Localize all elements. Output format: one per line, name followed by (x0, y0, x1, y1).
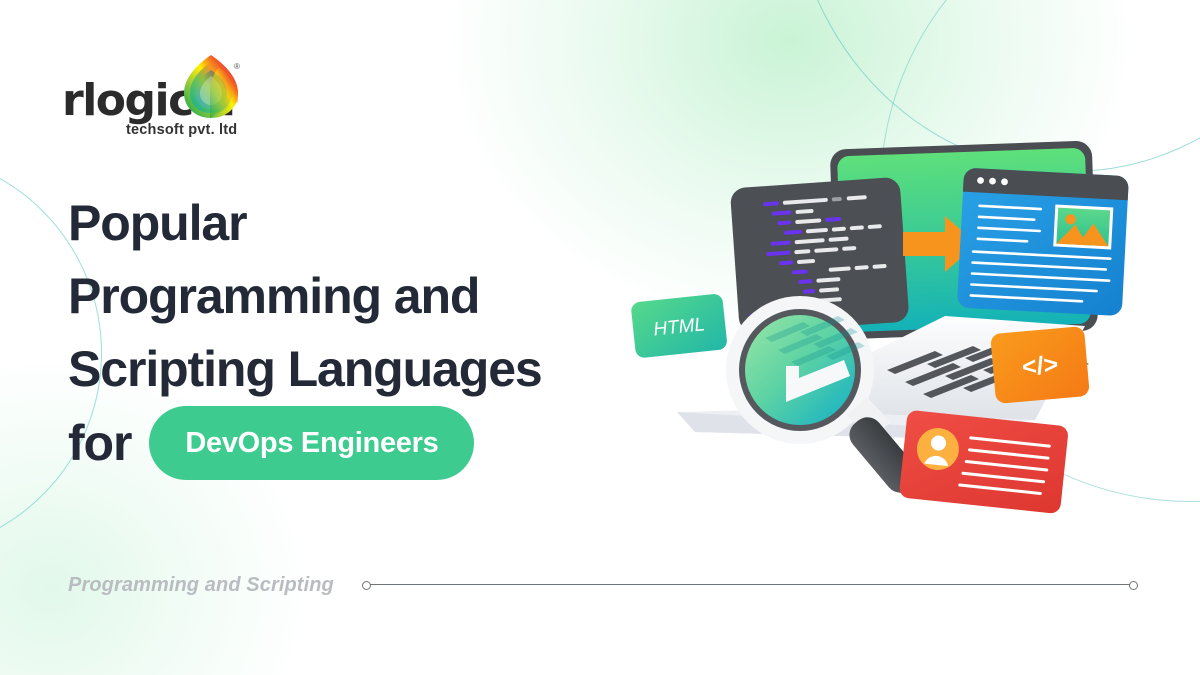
image-placeholder-icon (1053, 204, 1113, 249)
footer-label: Programming and Scripting (68, 574, 334, 597)
headline-line-4: for DevOps Engineers (68, 406, 708, 480)
brand-logo[interactable]: rlogical techsoft pvt. ltd ® (62, 57, 302, 143)
headline-line-1: Popular (68, 187, 708, 260)
headline-line-2: Programming and (68, 260, 708, 333)
footer-bar: Programming and Scripting (68, 565, 1138, 605)
poster-canvas: rlogical techsoft pvt. ltd ® (0, 0, 1200, 675)
footer-dot-right-icon (1129, 581, 1138, 590)
html-card: HTML (630, 293, 727, 358)
footer-dot-left-icon (362, 581, 371, 590)
headline-line-3: Scripting Languages (68, 333, 708, 406)
code-tag-label: </> (1021, 350, 1059, 381)
page-title: Popular Programming and Scripting Langua… (68, 187, 708, 480)
devops-engineers-badge[interactable]: DevOps Engineers (149, 406, 474, 480)
rlogical-leaf-logo-icon (180, 52, 242, 122)
profile-card (899, 410, 1069, 514)
headline-for-prefix: for (68, 407, 131, 480)
hero-illustration: HTML (615, 120, 1185, 550)
brand-tagline: techsoft pvt. ltd (126, 122, 237, 138)
footer-divider-line (362, 579, 1138, 591)
code-tag-card: </> (990, 326, 1090, 404)
illustration-svg: HTML (615, 120, 1185, 550)
blue-browser-window (957, 168, 1129, 316)
